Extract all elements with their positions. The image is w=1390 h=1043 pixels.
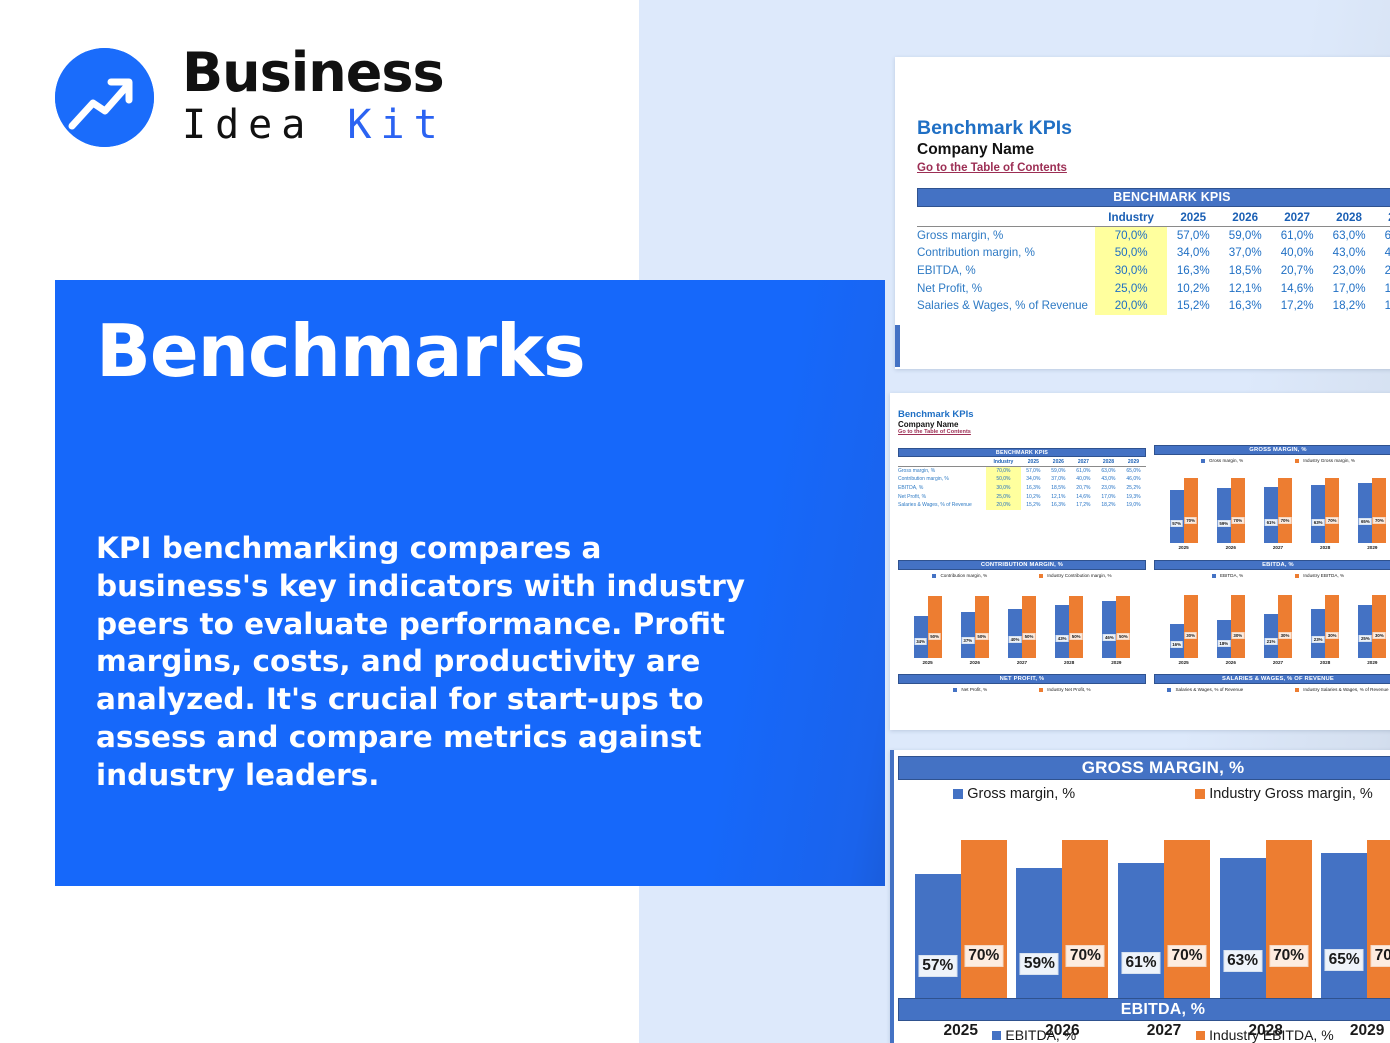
legend-swatch-icon: [1295, 574, 1299, 578]
bar: 59%: [1217, 488, 1231, 543]
bar-group: 65%70%: [1358, 469, 1386, 543]
bar-data-label: 65%: [1325, 949, 1364, 971]
column-header: 2025: [1167, 209, 1219, 227]
chart-title: EBITDA, %: [1154, 560, 1390, 570]
bar: 30%: [1184, 595, 1198, 658]
bar-group: 59%70%: [1016, 814, 1108, 1021]
bar-data-label: 46%: [1103, 634, 1116, 641]
legend-label: Salaries & Wages, % of Revenue: [1175, 687, 1243, 692]
bar: 25%: [1358, 605, 1372, 658]
legend-label: Industry Net Profit, %: [1047, 687, 1090, 692]
bar-data-label: 25%: [1359, 635, 1372, 642]
x-tick-label: 2025: [1168, 545, 1200, 550]
bar: 43%: [1055, 605, 1069, 658]
chart-title-ebitda: EBITDA, %: [898, 998, 1390, 1021]
bar-data-label: 70%: [1326, 517, 1339, 524]
x-tick-label: 2028: [1309, 660, 1341, 665]
column-header: Industry: [1095, 209, 1167, 227]
value-cell: 34,0%: [1167, 244, 1219, 262]
industry-cell: 20,0%: [986, 501, 1021, 510]
x-tick-label: 2026: [1215, 660, 1247, 665]
bar-group: 59%70%: [1217, 469, 1245, 543]
legend-label: Industry Gross margin, %: [1303, 458, 1355, 463]
chart-xaxis: 20252026202720282029: [898, 660, 1146, 665]
bar: 50%: [1069, 596, 1083, 658]
value-cell: 19,3%: [1375, 279, 1390, 297]
bar-group: 16%30%: [1170, 584, 1198, 658]
legend-item-company: EBITDA, %: [992, 1027, 1076, 1043]
bar: 70%: [1372, 478, 1386, 543]
bar-data-label: 50%: [1070, 633, 1083, 640]
chart-legend: Gross margin, %Industry Gross margin, %: [1154, 458, 1390, 463]
legend-item: Gross margin, %: [1201, 458, 1243, 463]
bar: 40%: [1008, 609, 1022, 658]
column-header: [898, 458, 986, 467]
row-label: Contribution margin, %: [917, 244, 1095, 262]
slide-canvas: Business Idea Kit Benchmarks KPI benchma…: [0, 0, 1390, 1043]
value-cell: 20,7%: [1071, 484, 1096, 493]
value-cell: 40,0%: [1071, 475, 1096, 484]
bar: 70%: [1231, 478, 1245, 543]
column-header: 2029: [1375, 209, 1390, 227]
bar-data-label: 40%: [1009, 636, 1022, 643]
row-label: EBITDA, %: [898, 484, 986, 493]
brand-logo: Business Idea Kit: [55, 46, 447, 148]
bar: 50%: [928, 596, 942, 658]
column-header: 2029: [1121, 458, 1146, 467]
legend-swatch-icon: [1201, 459, 1205, 463]
brand-idea-text: Idea: [182, 102, 347, 148]
value-cell: 20,7%: [1271, 262, 1323, 280]
value-cell: 46,0%: [1375, 244, 1390, 262]
row-label: Salaries & Wages, % of Revenue: [917, 297, 1095, 315]
x-tick-label: 2026: [1215, 545, 1247, 550]
value-cell: 17,0%: [1323, 279, 1375, 297]
chart-title: NET PROFIT, %: [898, 674, 1146, 684]
value-cell: 16,3%: [1046, 501, 1071, 510]
bar-data-label: 30%: [1184, 632, 1197, 639]
chart-plot-gross-margin: 57%70%59%70%61%70%63%70%65%70%: [904, 814, 1390, 1021]
bar-data-label: 59%: [1217, 520, 1230, 527]
column-header: Industry: [986, 458, 1021, 467]
legend-swatch-icon: [1039, 688, 1043, 692]
value-cell: 23,0%: [1096, 484, 1121, 493]
industry-cell: 25,0%: [986, 492, 1021, 501]
value-cell: 61,0%: [1071, 467, 1096, 476]
bar: 37%: [961, 612, 975, 658]
hero-panel: Benchmarks KPI benchmarking compares a b…: [55, 280, 885, 886]
x-tick-label: 2029: [1356, 545, 1388, 550]
legend-label-company: Gross margin, %: [967, 786, 1075, 802]
bar: 70%: [1266, 840, 1312, 1021]
bar-data-label: 61%: [1265, 519, 1278, 526]
legend-item-company: Gross margin, %: [953, 786, 1075, 802]
column-header: 2025: [1021, 458, 1046, 467]
table-row: EBITDA, %30,0%16,3%18,5%20,7%23,0%25,2%: [917, 262, 1390, 280]
bar-data-label: 70%: [1184, 517, 1197, 524]
legend-swatch-icon: [932, 574, 936, 578]
chart-title: CONTRIBUTION MARGIN, %: [898, 560, 1146, 570]
legend-swatch-icon: [1039, 574, 1043, 578]
value-cell: 14,6%: [1071, 492, 1096, 501]
brand-name-primary: Business: [182, 46, 447, 100]
brand-name-secondary: Idea Kit: [182, 102, 447, 148]
x-tick-label: 2026: [959, 660, 991, 665]
bar-data-label: 70%: [964, 945, 1003, 967]
value-cell: 18,2%: [1323, 297, 1375, 315]
bar-data-label: 34%: [914, 638, 927, 645]
chart-legend-ebitda: EBITDA, % Industry EBITDA, %: [898, 1027, 1390, 1043]
sheet-title: Benchmark KPIs: [917, 117, 1072, 140]
legend-swatch-icon: [1295, 459, 1299, 463]
column-header: 2028: [1323, 209, 1375, 227]
value-cell: 23,0%: [1323, 262, 1375, 280]
bar: 21%: [1264, 614, 1278, 658]
x-tick-label: 2025: [912, 660, 944, 665]
bar-data-label: 18%: [1217, 640, 1230, 647]
legend-item: EBITDA, %: [1212, 573, 1243, 578]
table-header-row: Industry20252026202720282029: [898, 458, 1146, 467]
value-cell: 61,0%: [1271, 227, 1323, 245]
chart-legend: Contribution margin, %Industry Contribut…: [898, 573, 1146, 578]
brand-kit-text: Kit: [347, 102, 446, 148]
table-row: Salaries & Wages, % of Revenue20,0%15,2%…: [917, 297, 1390, 315]
value-cell: 37,0%: [1219, 244, 1271, 262]
kpi-table-wrap: Industry20252026202720282029 Gross margi…: [917, 209, 1390, 315]
bar-data-label: 43%: [1056, 635, 1069, 642]
bar-data-label: 30%: [1279, 632, 1292, 639]
row-label: Contribution margin, %: [898, 475, 986, 484]
x-tick-label: 2027: [1262, 660, 1294, 665]
value-cell: 43,0%: [1096, 475, 1121, 484]
bar-group: 57%70%: [1170, 469, 1198, 543]
bar-group: 63%70%: [1311, 469, 1339, 543]
bar-group: 34%50%: [914, 584, 942, 658]
legend-swatch-blue-icon: [953, 789, 963, 799]
chart-legend: Salaries & Wages, % of RevenueIndustry S…: [1154, 687, 1390, 692]
column-header: 2026: [1219, 209, 1271, 227]
bar-data-label: 59%: [1020, 953, 1059, 975]
bar-data-label: 57%: [1170, 520, 1183, 527]
bar-group: 21%30%: [1264, 584, 1292, 658]
column-header: [917, 209, 1095, 227]
chart-title-gross-margin: GROSS MARGIN, %: [898, 756, 1390, 780]
bar: 70%: [1164, 840, 1210, 1021]
bar-data-label: 30%: [1231, 632, 1244, 639]
bar: 70%: [1367, 840, 1390, 1021]
value-cell: 18,5%: [1219, 262, 1271, 280]
legend-swatch-icon: [1212, 574, 1216, 578]
legend-label: EBITDA, %: [1220, 573, 1243, 578]
mini-chart-contribution-margin: CONTRIBUTION MARGIN, %Contribution margi…: [898, 560, 1146, 665]
bar-group: 63%70%: [1220, 814, 1312, 1021]
x-tick-label: 2027: [1006, 660, 1038, 665]
table-header-row: Industry20252026202720282029: [917, 209, 1390, 227]
mini-chart-gross-margin: GROSS MARGIN, %Gross margin, %Industry G…: [1154, 445, 1390, 550]
legend-label: Industry Salaries & Wages, % of Revenue: [1303, 687, 1388, 692]
mini-chart-net-profit: NET PROFIT, %Net Profit, %Industry Net P…: [898, 674, 1146, 692]
mini-chart-ebitda: EBITDA, %EBITDA, %Industry EBITDA, %16%3…: [1154, 560, 1390, 665]
bar-data-label: 70%: [1167, 945, 1206, 967]
legend-label: Gross margin, %: [1209, 458, 1243, 463]
legend-item: Salaries & Wages, % of Revenue: [1167, 687, 1243, 692]
bar-group: 46%50%: [1102, 584, 1130, 658]
value-cell: 59,0%: [1219, 227, 1271, 245]
bar-group: 61%70%: [1118, 814, 1210, 1021]
bar: 18%: [1217, 620, 1231, 658]
value-cell: 16,3%: [1167, 262, 1219, 280]
bar: 63%: [1311, 485, 1325, 543]
column-header: 2028: [1096, 458, 1121, 467]
x-tick-label: 2027: [1262, 545, 1294, 550]
table-row: Contribution margin, %50,0%34,0%37,0%40,…: [898, 475, 1146, 484]
bar: 57%: [1170, 490, 1184, 543]
row-label: Gross margin, %: [898, 467, 986, 476]
bar: 30%: [1372, 595, 1386, 658]
value-cell: 12,1%: [1219, 279, 1271, 297]
chart-plot: 34%50%37%50%40%50%43%50%46%50%: [898, 584, 1146, 658]
hero-description: KPI benchmarking compares a business's k…: [96, 530, 766, 794]
bar-group: 37%50%: [961, 584, 989, 658]
value-cell: 19,0%: [1375, 297, 1390, 315]
chart-legend: Net Profit, %Industry Net Profit, %: [898, 687, 1146, 692]
value-cell: 65,0%: [1375, 227, 1390, 245]
value-cell: 43,0%: [1323, 244, 1375, 262]
bar: 30%: [1325, 595, 1339, 658]
x-tick-label: 2028: [1309, 545, 1341, 550]
value-cell: 15,2%: [1167, 297, 1219, 315]
bar-data-label: 16%: [1170, 641, 1183, 648]
bar: 65%: [1358, 483, 1372, 543]
row-label: Net Profit, %: [898, 492, 986, 501]
row-label: EBITDA, %: [917, 262, 1095, 280]
dashboard-table-banner: BENCHMARK KPIS: [898, 448, 1146, 457]
industry-cell: 25,0%: [1095, 279, 1167, 297]
chart-legend-gross-margin: Gross margin, % Industry Gross margin, %: [898, 786, 1390, 802]
value-cell: 40,0%: [1271, 244, 1323, 262]
legend-item: Industry EBITDA, %: [1295, 573, 1344, 578]
legend-swatch-icon: [1295, 688, 1299, 692]
legend-swatch-orange-icon: [1196, 1031, 1205, 1040]
bar: 23%: [1311, 609, 1325, 658]
table-row: Salaries & Wages, % of Revenue20,0%15,2%…: [898, 501, 1146, 510]
legend-item: Industry Salaries & Wages, % of Revenue: [1295, 687, 1388, 692]
bar-group: 25%30%: [1358, 584, 1386, 658]
table-row: Gross margin, %70,0%57,0%59,0%61,0%63,0%…: [898, 467, 1146, 476]
row-label: Net Profit, %: [917, 279, 1095, 297]
bar-data-label: 37%: [961, 637, 974, 644]
value-cell: 63,0%: [1323, 227, 1375, 245]
bar: 16%: [1170, 624, 1184, 658]
dashboard-card-middle: Benchmark KPIs Company Name Go to the Ta…: [890, 393, 1390, 730]
chart-plot: 16%30%18%30%21%30%23%30%25%30%: [1154, 584, 1390, 658]
table-of-contents-link[interactable]: Go to the Table of Contents: [917, 162, 1072, 174]
table-banner: BENCHMARK KPIS: [917, 188, 1390, 207]
legend-label: Contribution margin, %: [940, 573, 987, 578]
legend-item: Contribution margin, %: [932, 573, 987, 578]
table-row: EBITDA, %30,0%16,3%18,5%20,7%23,0%25,2%: [898, 484, 1146, 493]
bar: 70%: [1184, 478, 1198, 543]
dashboard-table-head: Industry20252026202720282029: [898, 458, 1146, 467]
value-cell: 16,3%: [1021, 484, 1046, 493]
value-cell: 17,0%: [1096, 492, 1121, 501]
bar-data-label: 70%: [1279, 517, 1292, 524]
value-cell: 19,0%: [1121, 501, 1146, 510]
bar-group: 23%30%: [1311, 584, 1339, 658]
bar-data-label: 57%: [918, 955, 957, 977]
sheet-subtitle: Company Name: [917, 141, 1072, 159]
sheet-header: Benchmark KPIs Company Name Go to the Ta…: [917, 117, 1072, 174]
bar-group: 57%70%: [915, 814, 1007, 1021]
legend-label: Industry Contribution margin, %: [1047, 573, 1111, 578]
bar: 30%: [1231, 595, 1245, 658]
bar-data-label: 70%: [1373, 517, 1386, 524]
bar: 70%: [1325, 478, 1339, 543]
legend-swatch-blue-icon: [992, 1031, 1001, 1040]
mini-chart-salaries-wages: SALARIES & WAGES, % OF REVENUESalaries &…: [1154, 674, 1390, 692]
bar-group: 61%70%: [1264, 469, 1292, 543]
bar-data-label: 70%: [1066, 945, 1105, 967]
bar-data-label: 30%: [1373, 632, 1386, 639]
value-cell: 34,0%: [1021, 475, 1046, 484]
dashboard-toc-link[interactable]: Go to the Table of Contents: [898, 429, 974, 435]
value-cell: 18,2%: [1096, 501, 1121, 510]
legend-item-industry: Industry Gross margin, %: [1195, 786, 1373, 802]
chart-title: GROSS MARGIN, %: [1154, 445, 1390, 455]
value-cell: 57,0%: [1021, 467, 1046, 476]
table-row: Net Profit, %25,0%10,2%12,1%14,6%17,0%19…: [917, 279, 1390, 297]
x-tick-label: 2028: [1053, 660, 1085, 665]
legend-item: Net Profit, %: [953, 687, 987, 692]
bar-data-label: 30%: [1326, 632, 1339, 639]
bar-data-label: 65%: [1359, 518, 1372, 525]
dashboard-subtitle: Company Name: [898, 420, 974, 429]
page-title: Benchmarks: [96, 315, 585, 387]
chart-title: SALARIES & WAGES, % OF REVENUE: [1154, 674, 1390, 684]
value-cell: 17,2%: [1071, 501, 1096, 510]
bar: 50%: [1116, 596, 1130, 658]
value-cell: 14,6%: [1271, 279, 1323, 297]
value-cell: 59,0%: [1046, 467, 1071, 476]
industry-cell: 50,0%: [1095, 244, 1167, 262]
value-cell: 19,3%: [1121, 492, 1146, 501]
legend-item: Industry Net Profit, %: [1039, 687, 1090, 692]
sheet-left-accent: [895, 325, 900, 367]
legend-swatch-icon: [1167, 688, 1171, 692]
value-cell: 10,2%: [1021, 492, 1046, 501]
bar-data-label: 50%: [928, 633, 941, 640]
kpi-table-body: Gross margin, %70,0%57,0%59,0%61,0%63,0%…: [917, 227, 1390, 315]
chart-card-bottom: GROSS MARGIN, % Gross margin, % Industry…: [890, 750, 1390, 1043]
bar: 50%: [975, 596, 989, 658]
legend-label: Net Profit, %: [961, 687, 987, 692]
industry-cell: 70,0%: [1095, 227, 1167, 245]
industry-cell: 20,0%: [1095, 297, 1167, 315]
bar: 50%: [1022, 596, 1036, 658]
legend-item-industry: Industry EBITDA, %: [1196, 1027, 1333, 1043]
bar-data-label: 50%: [1023, 633, 1036, 640]
row-label: Gross margin, %: [917, 227, 1095, 245]
bar-data-label: 70%: [1269, 945, 1308, 967]
chart-legend: EBITDA, %Industry EBITDA, %: [1154, 573, 1390, 578]
bar: 34%: [914, 616, 928, 658]
chart-plot: 57%70%59%70%61%70%63%70%65%70%: [1154, 469, 1390, 543]
industry-cell: 30,0%: [1095, 262, 1167, 280]
legend-label: Industry EBITDA, %: [1303, 573, 1344, 578]
bar: 30%: [1278, 595, 1292, 658]
bar-data-label: 70%: [1231, 517, 1244, 524]
dashboard-kpi-table: Industry20252026202720282029 Gross margi…: [898, 458, 1146, 510]
dashboard-title: Benchmark KPIs: [898, 409, 974, 420]
dashboard-table-body: Gross margin, %70,0%57,0%59,0%61,0%63,0%…: [898, 467, 1146, 510]
kpi-table-head: Industry20252026202720282029: [917, 209, 1390, 227]
legend-swatch-orange-icon: [1195, 789, 1205, 799]
chart-xaxis: 20252026202720282029: [1154, 545, 1390, 550]
column-header: 2027: [1271, 209, 1323, 227]
value-cell: 57,0%: [1167, 227, 1219, 245]
value-cell: 46,0%: [1121, 475, 1146, 484]
x-tick-label: 2029: [1356, 660, 1388, 665]
table-row: Net Profit, %25,0%10,2%12,1%14,6%17,0%19…: [898, 492, 1146, 501]
value-cell: 15,2%: [1021, 501, 1046, 510]
bar: 65%: [1321, 853, 1367, 1021]
value-cell: 25,2%: [1121, 484, 1146, 493]
bar-data-label: 50%: [1117, 633, 1130, 640]
industry-cell: 70,0%: [986, 467, 1021, 476]
bar: 70%: [1062, 840, 1108, 1021]
x-tick-label: 2025: [1168, 660, 1200, 665]
row-label: Salaries & Wages, % of Revenue: [898, 501, 986, 510]
bar-data-label: 63%: [1312, 519, 1325, 526]
bar: 70%: [961, 840, 1007, 1021]
value-cell: 18,5%: [1046, 484, 1071, 493]
bar-data-label: 63%: [1223, 950, 1262, 972]
value-cell: 63,0%: [1096, 467, 1121, 476]
value-cell: 16,3%: [1219, 297, 1271, 315]
bar-group: 18%30%: [1217, 584, 1245, 658]
industry-cell: 30,0%: [986, 484, 1021, 493]
bar-data-label: 70%: [1371, 945, 1390, 967]
chart-left-accent: [890, 750, 894, 1043]
value-cell: 65,0%: [1121, 467, 1146, 476]
legend-label-industry: Industry EBITDA, %: [1209, 1027, 1333, 1043]
value-cell: 10,2%: [1167, 279, 1219, 297]
bar-data-label: 61%: [1121, 952, 1160, 974]
bar: 46%: [1102, 601, 1116, 658]
legend-label-industry: Industry Gross margin, %: [1209, 786, 1373, 802]
chart-xaxis: 20252026202720282029: [1154, 660, 1390, 665]
table-row: Contribution margin, %50,0%34,0%37,0%40,…: [917, 244, 1390, 262]
bar: 61%: [1264, 487, 1278, 543]
column-header: 2026: [1046, 458, 1071, 467]
bar-group: 65%70%: [1321, 814, 1390, 1021]
value-cell: 37,0%: [1046, 475, 1071, 484]
trend-arrow-icon: [55, 48, 154, 147]
value-cell: 12,1%: [1046, 492, 1071, 501]
table-row: Gross margin, %70,0%57,0%59,0%61,0%63,0%…: [917, 227, 1390, 245]
legend-item: Industry Gross margin, %: [1295, 458, 1355, 463]
column-header: 2027: [1071, 458, 1096, 467]
value-cell: 17,2%: [1271, 297, 1323, 315]
industry-cell: 50,0%: [986, 475, 1021, 484]
bar: 70%: [1278, 478, 1292, 543]
kpi-table: Industry20252026202720282029 Gross margi…: [917, 209, 1390, 315]
x-tick-label: 2029: [1100, 660, 1132, 665]
bar-data-label: 23%: [1312, 636, 1325, 643]
bar: 63%: [1220, 858, 1266, 1021]
bar-group: 43%50%: [1055, 584, 1083, 658]
dashboard-header: Benchmark KPIs Company Name Go to the Ta…: [898, 409, 974, 435]
